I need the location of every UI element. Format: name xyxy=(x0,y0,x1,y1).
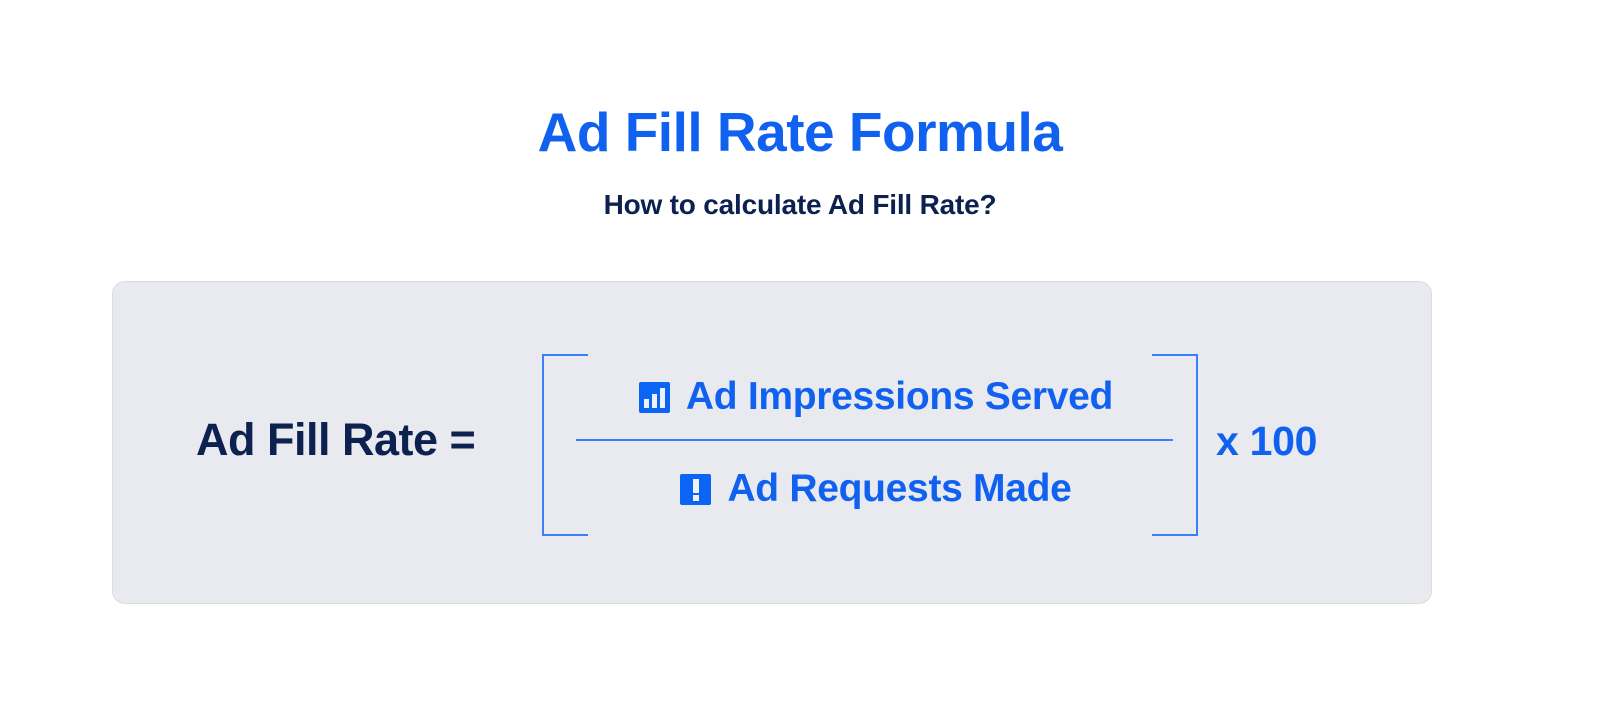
fraction-numerator: Ad Impressions Served xyxy=(576,366,1176,428)
page-subtitle: How to calculate Ad Fill Rate? xyxy=(0,162,1600,221)
fraction: Ad Impressions Served Ad Requests Made xyxy=(576,354,1176,536)
formula-card: Ad Fill Rate = Ad Impressions Served Ad … xyxy=(112,281,1432,604)
header: Ad Fill Rate Formula How to calculate Ad… xyxy=(0,104,1600,221)
formula-left-hand-side: Ad Fill Rate = xyxy=(196,414,475,466)
exclamation-mark-icon xyxy=(680,474,711,505)
bracketed-fraction: Ad Impressions Served Ad Requests Made xyxy=(542,354,1198,536)
page-title: Ad Fill Rate Formula xyxy=(0,104,1600,162)
fraction-divider-line xyxy=(576,439,1173,441)
bar-chart-icon xyxy=(639,382,670,413)
denominator-label: Ad Requests Made xyxy=(727,467,1071,511)
numerator-label: Ad Impressions Served xyxy=(686,375,1113,419)
fraction-denominator: Ad Requests Made xyxy=(576,458,1176,520)
formula-multiplier: x 100 xyxy=(1216,418,1317,465)
